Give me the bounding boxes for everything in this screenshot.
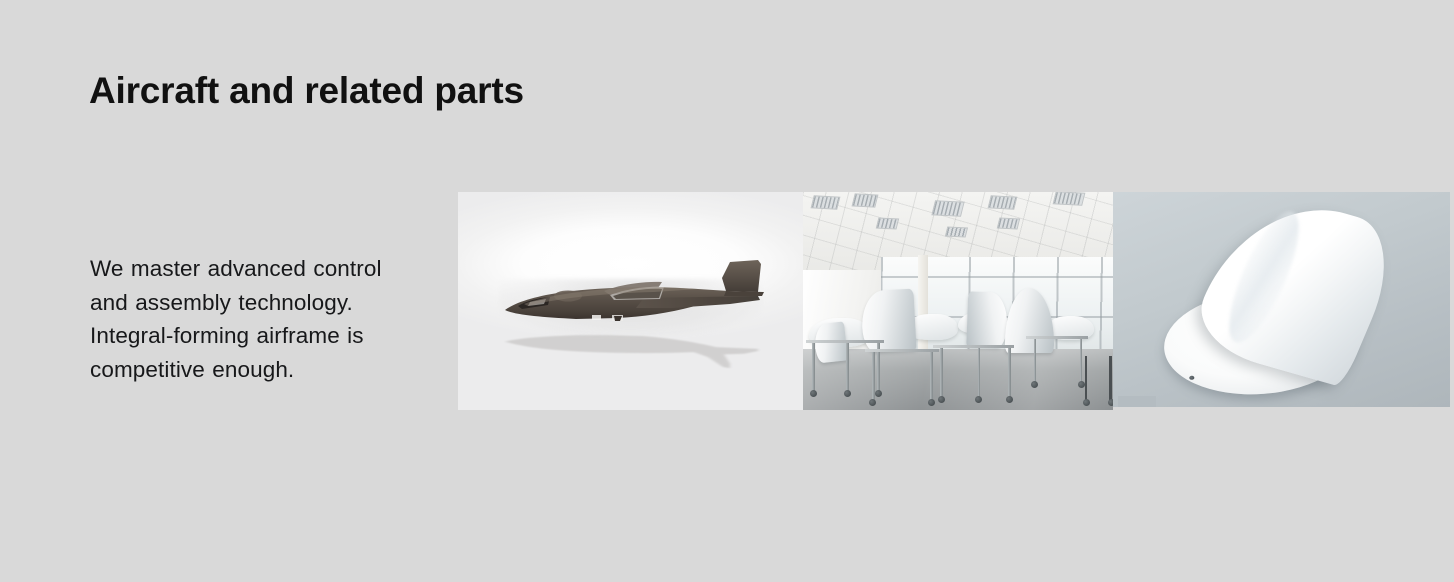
- cart-leg: [846, 343, 849, 392]
- rolling-cart: [933, 345, 1014, 404]
- slide-right-margin: [1450, 192, 1454, 411]
- cart-caster: [975, 396, 982, 403]
- cart-leg: [1008, 348, 1011, 399]
- ceiling-vent: [851, 194, 878, 208]
- image-gallery: [458, 192, 1454, 411]
- assembly-hall-photo: [803, 192, 1113, 410]
- hall-pillar: [918, 255, 928, 360]
- cart-leg: [1085, 356, 1088, 400]
- cart-leg: [978, 348, 981, 399]
- ceiling-vent: [945, 226, 968, 237]
- carbon-fiber-airframe-photo: [458, 192, 803, 410]
- ceiling-vent: [997, 218, 1020, 230]
- cart-top: [865, 349, 939, 352]
- cart-leg: [1109, 356, 1112, 400]
- ceiling-vent: [876, 218, 899, 230]
- airframe-shape: [458, 192, 803, 410]
- ceiling-vent: [1053, 192, 1086, 206]
- ceiling-vent: [932, 200, 965, 217]
- cart-leg: [940, 348, 943, 399]
- body-paragraph: We master advanced control and assembly …: [90, 252, 420, 386]
- page-title: Aircraft and related parts: [89, 70, 524, 113]
- cart-caster: [844, 390, 851, 397]
- cart-caster: [1083, 399, 1090, 406]
- slide-canvas: Aircraft and related parts We master adv…: [0, 0, 1454, 582]
- composite-fairing-photo: [1113, 192, 1454, 407]
- cart-caster: [869, 399, 876, 406]
- cart-leg: [812, 343, 815, 392]
- rolling-cart: [865, 349, 939, 406]
- cart-top: [806, 340, 884, 343]
- cart-caster: [1031, 381, 1038, 388]
- cart-leg: [1034, 339, 1037, 383]
- rolling-cart: [1079, 353, 1113, 405]
- ceiling-vent: [811, 196, 841, 210]
- fairing-corner-notch: [1118, 396, 1156, 407]
- cart-leg: [872, 352, 875, 401]
- cart-caster: [1006, 396, 1013, 403]
- mounting-bolt: [1189, 376, 1194, 380]
- cart-caster: [810, 390, 817, 397]
- ceiling-vent: [988, 196, 1018, 210]
- cart-caster: [938, 396, 945, 403]
- cart-top: [933, 345, 1014, 348]
